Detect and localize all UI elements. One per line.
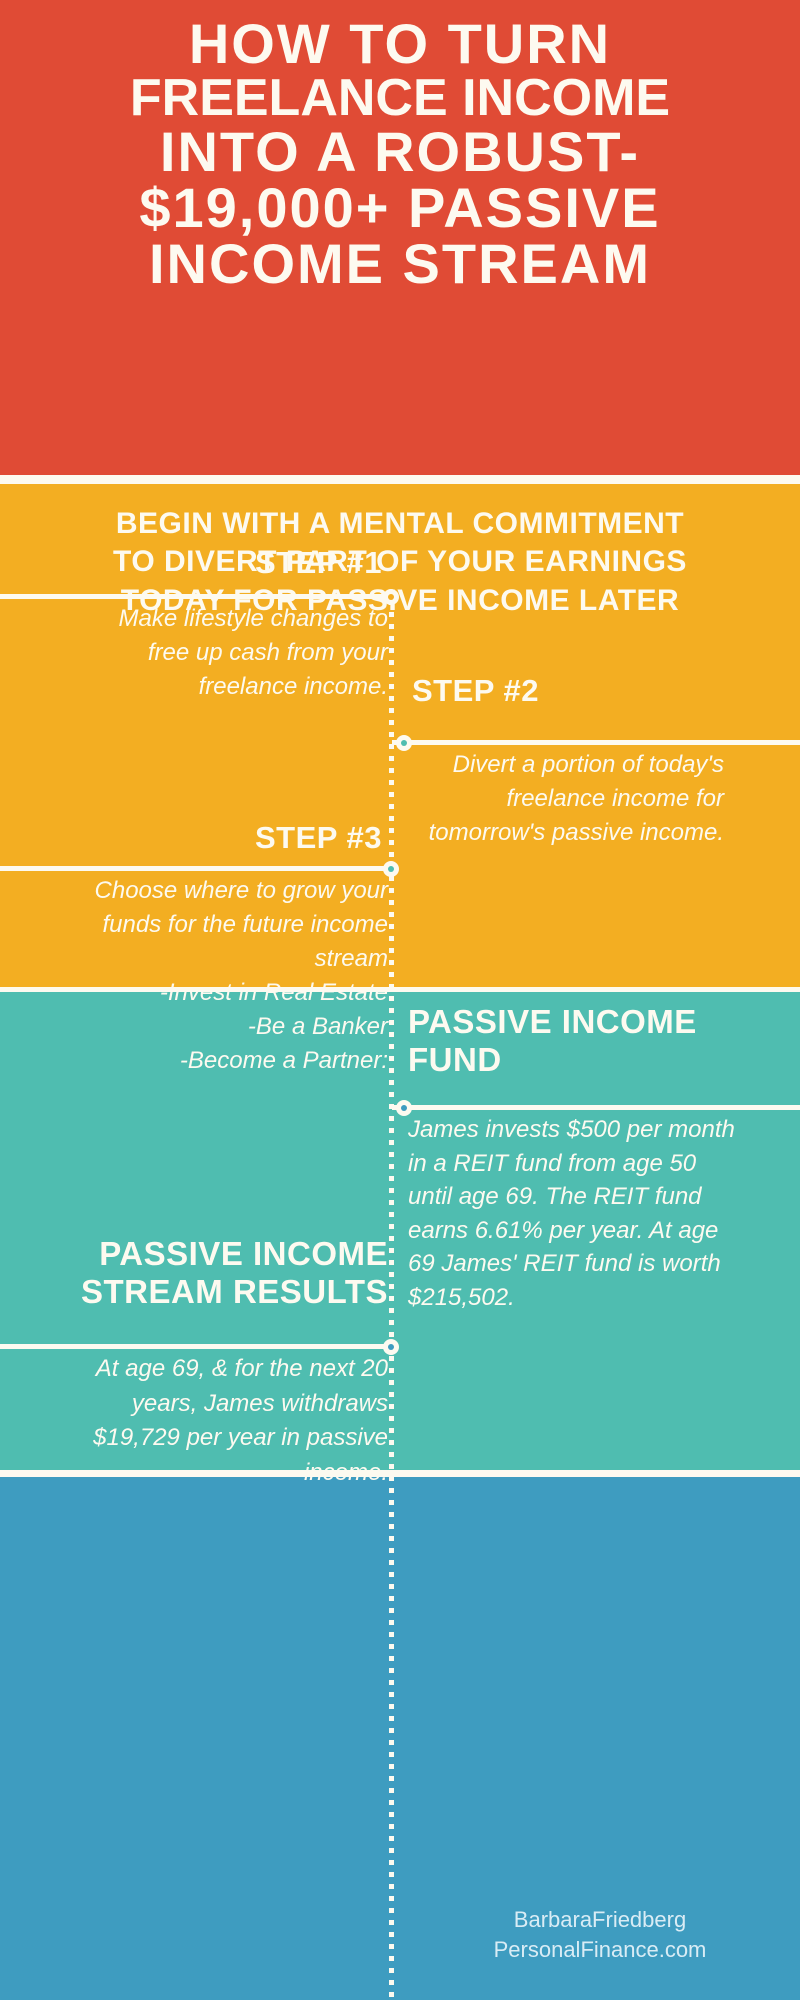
title-line-1: HOW TO TURN [6, 16, 794, 72]
title-line-4: $19,000+ PASSIVE [6, 180, 794, 236]
step-3-rule [0, 866, 392, 871]
results-dot-icon [383, 1339, 399, 1355]
timeline-spine [389, 600, 394, 2000]
subhead-line-2: TO DIVERT PART OF YOUR EARNINGS [0, 543, 800, 581]
poster-title: HOW TO TURN FREELANCE INCOME INTO A ROBU… [0, 16, 800, 292]
results-rule [0, 1344, 392, 1349]
fund-rule [392, 1105, 800, 1110]
passive-income-fund-body: James invests $500 per month in a REIT f… [408, 1113, 738, 1315]
step-2-rule [392, 740, 800, 745]
step-3-dot-icon [383, 861, 399, 877]
passive-income-fund-title: PASSIVE INCOME FUND [408, 1003, 748, 1080]
fund-dot-icon [396, 1100, 412, 1116]
brand-line-2: PersonalFinance.com [400, 1935, 800, 1965]
step-1-body: Make lifestyle changes to free up cash f… [88, 602, 388, 704]
step-2-heading: STEP #2 [412, 673, 539, 709]
brand-line-1: BarbaraFriedberg [400, 1905, 800, 1935]
title-line-3: INTO A ROBUST- [6, 124, 794, 180]
step-3-heading: STEP #3 [255, 820, 382, 856]
results-title: PASSIVE INCOME STREAM RESULTS [48, 1235, 388, 1312]
infographic-poster: HOW TO TURN FREELANCE INCOME INTO A ROBU… [0, 0, 800, 2000]
step-1-heading: STEP #1 [255, 545, 382, 581]
title-line-5: INCOME STREAM [6, 236, 794, 292]
step-1-dot-icon [383, 589, 399, 605]
brand-footer[interactable]: BarbaraFriedberg PersonalFinance.com [400, 1905, 800, 1964]
results-body: At age 69, & for the next 20 years, Jame… [76, 1352, 388, 1490]
step-1-rule [0, 594, 392, 599]
subhead-line-1: BEGIN WITH A MENTAL COMMITMENT [0, 505, 800, 543]
step-3-body: Choose where to grow your funds for the … [76, 874, 388, 1078]
step-2-dot-icon [396, 735, 412, 751]
title-line-2: FREELANCE INCOME [6, 72, 794, 124]
step-2-body: Divert a portion of today's freelance in… [412, 748, 724, 850]
